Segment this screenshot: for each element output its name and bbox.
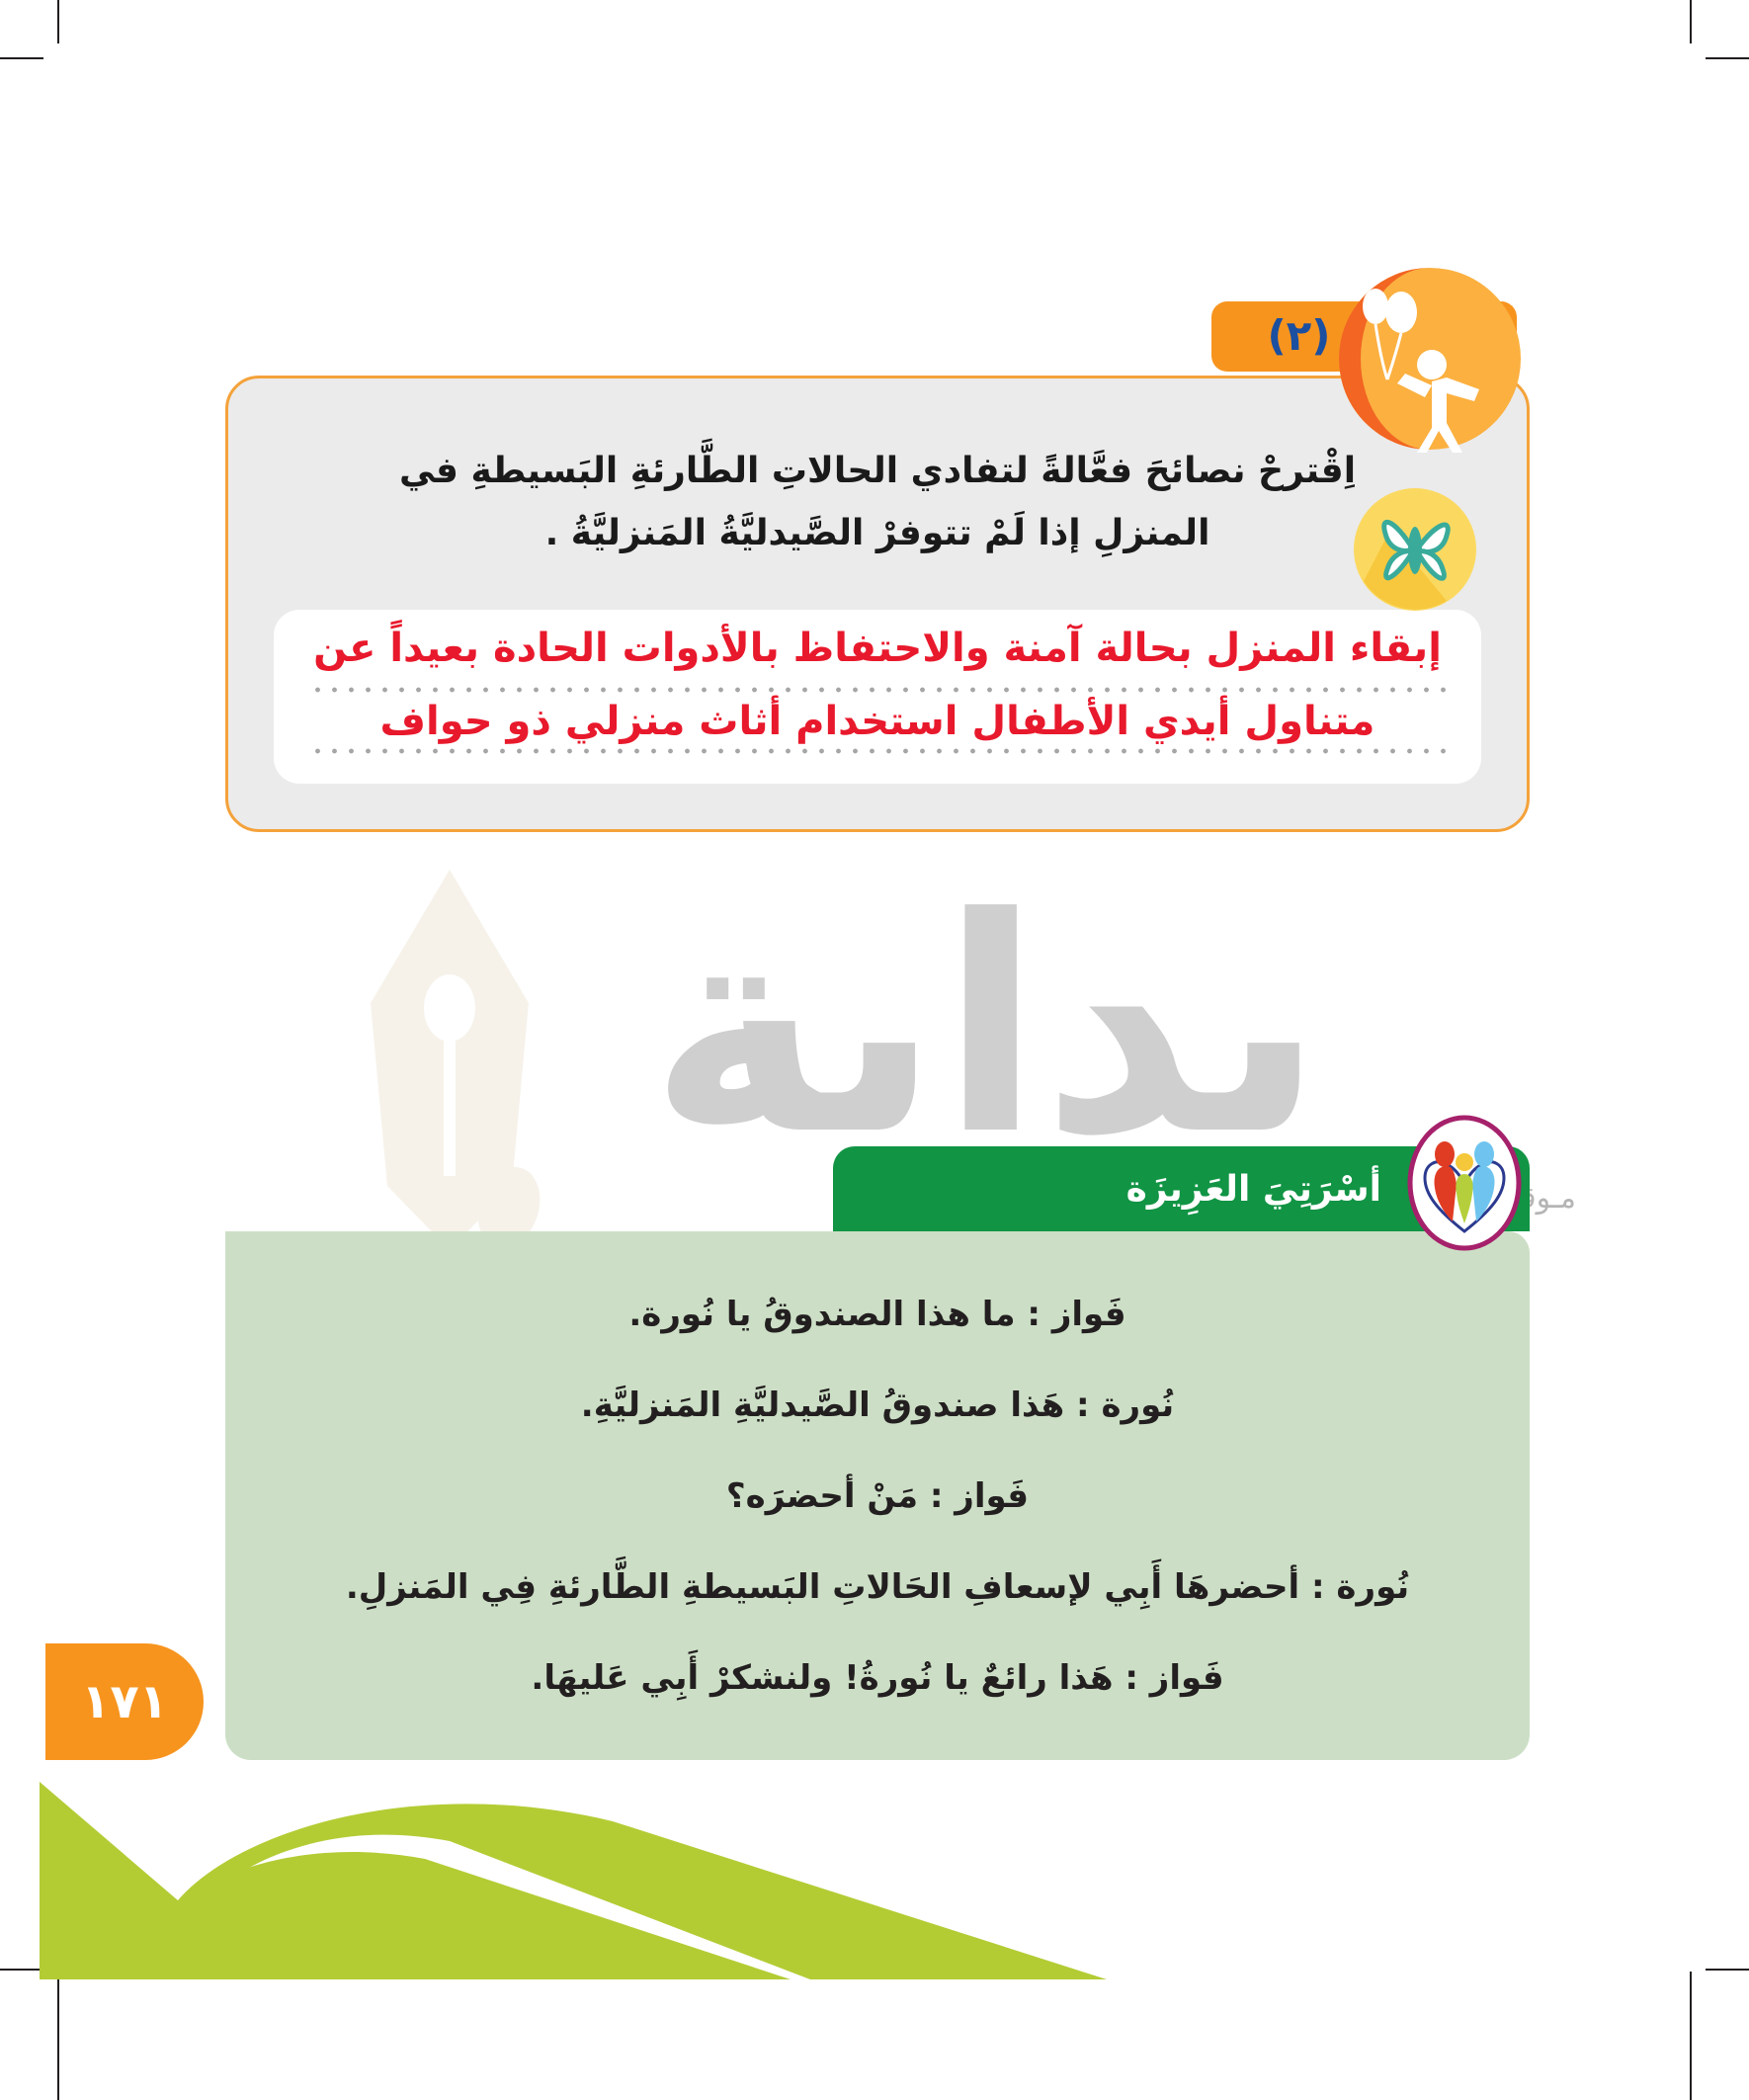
answer-handwriting-line-2: متناول أيدي الأطفال استخدام أثاث منزلي ذ…	[309, 701, 1446, 742]
butterfly-icon	[1350, 484, 1480, 615]
family-heart-logo-icon	[1407, 1115, 1522, 1251]
watermark-word: بداية	[649, 880, 1324, 1176]
family-dialogue-body: فَواز : ما هذا الصندوقُ يا نُورة. نُورة …	[225, 1231, 1530, 1760]
footer-wave-decoration	[0, 1782, 1126, 1979]
dialogue-line: فَواز : مَنْ أحضرَه؟	[281, 1474, 1474, 1520]
activity-card: نشاطُ (٢) اِقْترحْ نصائحَ فعَّالةً لتفاد…	[225, 376, 1530, 832]
crop-mark-bottom-right-horizontal	[1706, 1969, 1749, 1971]
activity-question: اِقْترحْ نصائحَ فعَّالةً لتفادي الحالاتِ…	[228, 378, 1527, 584]
family-section: أسْرَتِيَ العَزِيزَة فَواز : ما هذا الصن…	[225, 1146, 1530, 1760]
dialogue-line: نُورة : هَذا صندوقُ الصَّيدليَّةِ المَنز…	[281, 1384, 1474, 1429]
family-section-label: أسْرَتِيَ العَزِيزَة	[1126, 1169, 1381, 1210]
textbook-page: بداية مـوقـع بـدايــة التعليمي | beadaya…	[0, 0, 1749, 2100]
dialogue-line: فَواز : ما هذا الصندوقُ يا نُورة.	[281, 1293, 1474, 1338]
answer-dotted-line[interactable]	[309, 748, 1446, 754]
page-number-badge: ١٧١	[45, 1643, 204, 1760]
family-section-header: أسْرَتِيَ العَزِيزَة	[833, 1146, 1530, 1231]
crop-mark-top-left-vertical	[57, 0, 59, 43]
answer-handwriting-line-1: إبقاء المنزل بحالة آمنة والاحتفاظ بالأدو…	[309, 628, 1446, 669]
crop-mark-top-right-vertical	[1690, 0, 1692, 43]
answer-dotted-line[interactable]	[309, 687, 1446, 693]
crop-mark-bottom-left-vertical	[57, 1972, 59, 2100]
answer-area[interactable]: إبقاء المنزل بحالة آمنة والاحتفاظ بالأدو…	[274, 610, 1481, 784]
page-number-value: ١٧١	[81, 1674, 168, 1729]
dialogue-line: نُورة : أحضرهَا أَبِي لإسعافِ الحَالاتِ …	[281, 1565, 1474, 1611]
crop-mark-bottom-right-vertical	[1690, 1972, 1692, 2100]
child-with-balloons-icon	[1336, 265, 1524, 453]
dialogue-line: فَواز : هَذا رائعٌ يا نُورةُ! ولنشكرْ أَ…	[281, 1656, 1474, 1702]
crop-mark-top-left-horizontal	[0, 57, 43, 59]
crop-mark-top-right-horizontal	[1706, 57, 1749, 59]
